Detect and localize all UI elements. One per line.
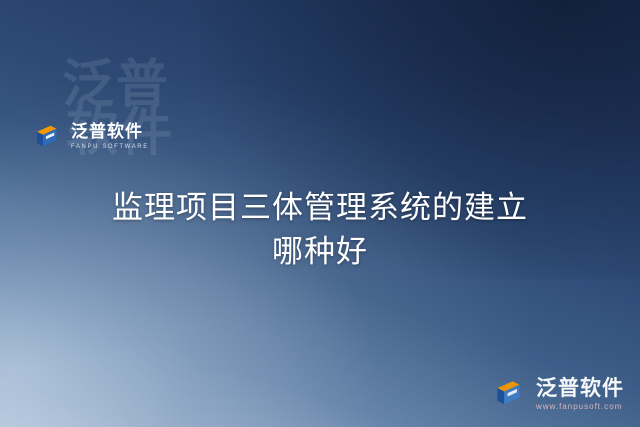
fanpu-logo-icon [34, 122, 64, 152]
page-title-line-1: 监理项目三体管理系统的建立 [112, 190, 528, 226]
logo-bottom-right: 泛普软件 www.fanpusoft.com [494, 377, 624, 411]
page-title: 监理项目三体管理系统的建立 哪种好 [0, 186, 640, 274]
logo-bottom-right-name-cn: 泛普软件 [536, 378, 624, 399]
logo-bottom-right-words: 泛普软件 www.fanpusoft.com [536, 378, 624, 411]
fanpu-logo-icon [494, 377, 528, 411]
logo-top-left-name-en: FANPU SOFTWARE [71, 144, 149, 150]
page-title-line-2: 哪种好 [0, 230, 640, 274]
logo-top-left: 泛普软件 FANPU SOFTWARE [34, 122, 149, 152]
promo-banner: 泛普 软件 泛普软件 FANPU SOFTWARE 监理项目三体管理系统的建立 … [0, 0, 640, 427]
logo-top-left-words: 泛普软件 FANPU SOFTWARE [71, 124, 149, 150]
logo-bottom-right-url: www.fanpusoft.com [536, 403, 624, 411]
logo-top-left-name-cn: 泛普软件 [71, 124, 149, 141]
